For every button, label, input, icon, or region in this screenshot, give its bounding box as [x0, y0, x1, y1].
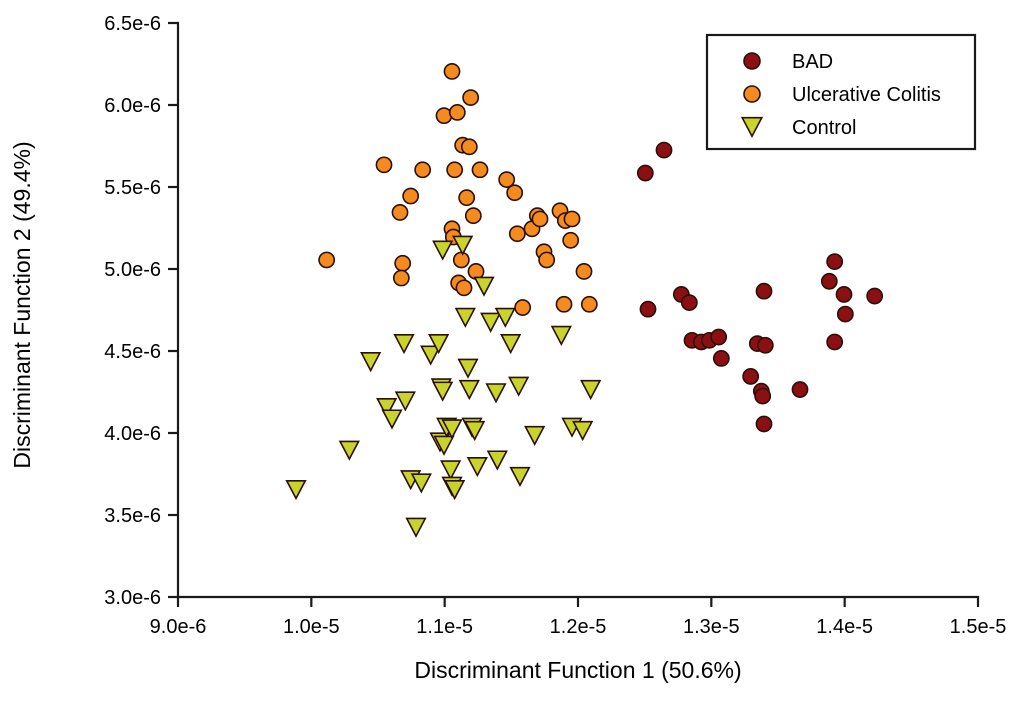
- legend-marker-bad: [744, 53, 760, 69]
- data-point: [433, 241, 452, 259]
- data-point: [475, 277, 494, 295]
- data-point: [827, 334, 842, 349]
- series-bad: [638, 143, 883, 432]
- data-point: [756, 284, 771, 299]
- data-point: [755, 389, 770, 404]
- data-point: [758, 338, 773, 353]
- data-point: [792, 382, 807, 397]
- data-point: [383, 410, 402, 428]
- data-point: [376, 157, 391, 172]
- data-point: [456, 280, 471, 295]
- data-point: [501, 335, 520, 353]
- data-point: [552, 327, 571, 345]
- data-point: [564, 211, 579, 226]
- data-point: [396, 392, 415, 410]
- x-tick-label: 1.3e-5: [683, 616, 740, 638]
- x-tick-label: 1.5e-5: [950, 616, 1007, 638]
- x-tick-label: 1.2e-5: [550, 616, 607, 638]
- y-tick-label: 4.0e-6: [104, 423, 161, 445]
- data-point: [412, 474, 431, 492]
- y-tick-label: 5.0e-6: [104, 259, 161, 281]
- data-point: [827, 254, 842, 269]
- y-tick-label: 3.5e-6: [104, 505, 161, 527]
- data-point: [743, 369, 758, 384]
- data-point: [638, 165, 653, 180]
- data-point: [319, 252, 334, 267]
- y-tick-label: 6.5e-6: [104, 13, 161, 35]
- data-point: [640, 302, 655, 317]
- legend-label: Ulcerative Colitis: [792, 84, 941, 106]
- data-point: [515, 300, 530, 315]
- x-tick-label: 1.4e-5: [816, 616, 873, 638]
- data-point: [340, 441, 359, 459]
- data-point: [573, 422, 592, 440]
- data-point: [287, 481, 306, 499]
- data-point: [460, 381, 479, 399]
- data-point: [496, 309, 515, 327]
- data-point: [456, 309, 475, 327]
- data-point: [507, 185, 522, 200]
- data-point: [450, 105, 465, 120]
- data-point: [510, 226, 525, 241]
- y-tick-label: 4.5e-6: [104, 341, 161, 363]
- data-point: [509, 377, 528, 395]
- data-point: [581, 381, 600, 399]
- legend-marker-ulcerative-colitis: [744, 86, 760, 102]
- data-point: [403, 188, 418, 203]
- data-point: [682, 295, 697, 310]
- data-point: [395, 335, 414, 353]
- data-point: [444, 64, 459, 79]
- x-axis-title: Discriminant Function 1 (50.6%): [414, 657, 741, 683]
- data-point: [445, 481, 464, 499]
- data-point: [539, 252, 554, 267]
- data-point: [361, 353, 380, 371]
- data-point: [407, 518, 426, 536]
- data-point: [447, 162, 462, 177]
- data-point: [867, 288, 882, 303]
- data-point: [392, 205, 407, 220]
- data-point: [465, 422, 484, 440]
- scatter-plot-figure: 3.0e-63.5e-64.0e-64.5e-65.0e-65.5e-66.0e…: [0, 0, 1024, 703]
- data-point: [468, 458, 487, 476]
- legend: BADUlcerative ColitisControl: [707, 35, 975, 149]
- data-point: [459, 190, 474, 205]
- y-tick-label: 6.0e-6: [104, 95, 161, 117]
- data-point: [656, 143, 671, 158]
- data-point: [532, 211, 547, 226]
- data-point: [394, 270, 409, 285]
- data-point: [453, 236, 472, 254]
- data-point: [441, 461, 460, 479]
- y-tick-label: 5.5e-6: [104, 177, 161, 199]
- x-tick-label: 9.0e-6: [150, 616, 207, 638]
- series-ulcerative-colitis: [319, 64, 597, 315]
- data-point: [711, 329, 726, 344]
- data-point: [463, 90, 478, 105]
- x-tick-label: 1.1e-5: [416, 616, 473, 638]
- data-point: [563, 233, 578, 248]
- legend-label: Control: [792, 117, 856, 139]
- data-point: [836, 287, 851, 302]
- data-point: [415, 162, 430, 177]
- data-point: [488, 451, 507, 469]
- data-point: [454, 252, 469, 267]
- data-point: [756, 416, 771, 431]
- y-tick-label: 3.0e-6: [104, 587, 161, 609]
- legend-label: BAD: [792, 51, 833, 73]
- data-point: [487, 384, 506, 402]
- data-point: [582, 297, 597, 312]
- data-point: [481, 313, 500, 331]
- data-point: [433, 382, 452, 400]
- data-point: [462, 139, 477, 154]
- data-point: [714, 351, 729, 366]
- data-point: [525, 427, 544, 445]
- y-axis-title: Discriminant Function 2 (49.4%): [9, 141, 35, 468]
- chart-canvas: 3.0e-63.5e-64.0e-64.5e-65.0e-65.5e-66.0e…: [0, 0, 1024, 703]
- data-point: [472, 162, 487, 177]
- series-control: [287, 236, 600, 536]
- data-point: [511, 468, 530, 486]
- data-point: [838, 307, 853, 322]
- data-point: [466, 208, 481, 223]
- data-point: [459, 359, 478, 377]
- data-point: [556, 297, 571, 312]
- x-tick-label: 1.0e-5: [283, 616, 340, 638]
- data-point: [576, 264, 591, 279]
- data-point: [822, 274, 837, 289]
- data-point: [395, 256, 410, 271]
